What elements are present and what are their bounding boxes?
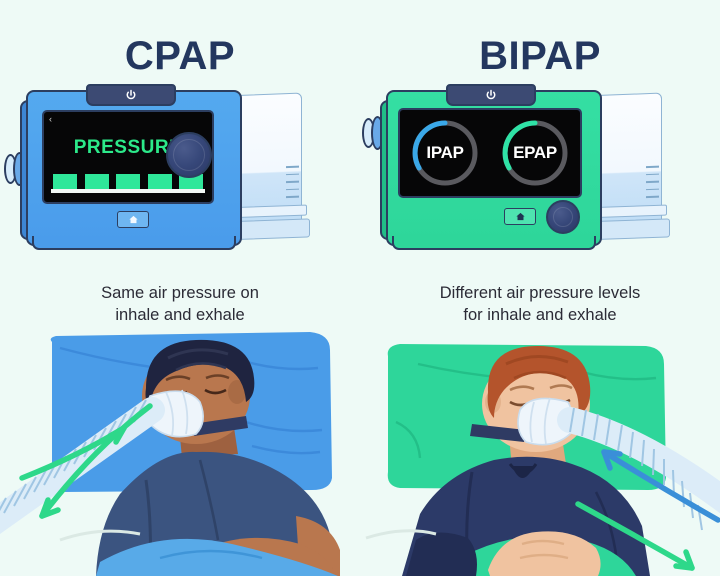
power-button-bipap[interactable] [446, 84, 536, 106]
panel-bipap: BIPAP [360, 0, 720, 576]
gauge-ipap[interactable]: IPAP [409, 117, 481, 189]
gauge-ipap-label: IPAP [409, 143, 481, 163]
power-icon [125, 89, 137, 101]
bipap-control-knob[interactable] [546, 200, 580, 234]
cpap-vs-bipap-infographic: CPAP [0, 0, 720, 576]
illustration-bipap [360, 330, 720, 576]
bipap-machine: IPAP EPAP [378, 88, 702, 258]
cpap-home-button[interactable] [117, 211, 149, 228]
bipap-gauges: IPAP EPAP [400, 110, 580, 196]
bipap-screen[interactable]: IPAP EPAP [398, 108, 582, 198]
caption-bipap-line1: Different air pressure levels [380, 283, 700, 305]
caption-cpap-line1: Same air pressure on [20, 283, 340, 305]
caption-cpap-line2: inhale and exhale [20, 305, 340, 327]
gauge-epap-label: EPAP [499, 143, 571, 163]
cpap-machine: ‹ PRESSURE [18, 88, 342, 258]
bipap-body-foot [392, 236, 596, 250]
cpap-bars-baseline [51, 189, 205, 193]
screen-back-chevron-icon[interactable]: ‹ [49, 115, 52, 124]
caption-bipap: Different air pressure levels for inhale… [380, 283, 700, 327]
caption-cpap: Same air pressure on inhale and exhale [20, 283, 340, 327]
home-icon [515, 211, 526, 222]
illustration-cpap [0, 330, 360, 576]
cpap-control-knob[interactable] [166, 132, 212, 178]
bipap-home-button[interactable] [504, 208, 536, 225]
home-icon [128, 214, 139, 225]
panel-cpap: CPAP [0, 0, 360, 576]
panel-title-cpap: CPAP [0, 34, 360, 79]
cpap-body-foot [32, 236, 236, 250]
power-button-cpap[interactable] [86, 84, 176, 106]
panel-title-bipap: BIPAP [360, 34, 720, 79]
caption-bipap-line2: for inhale and exhale [380, 305, 700, 327]
power-icon [485, 89, 497, 101]
gauge-epap[interactable]: EPAP [499, 117, 571, 189]
